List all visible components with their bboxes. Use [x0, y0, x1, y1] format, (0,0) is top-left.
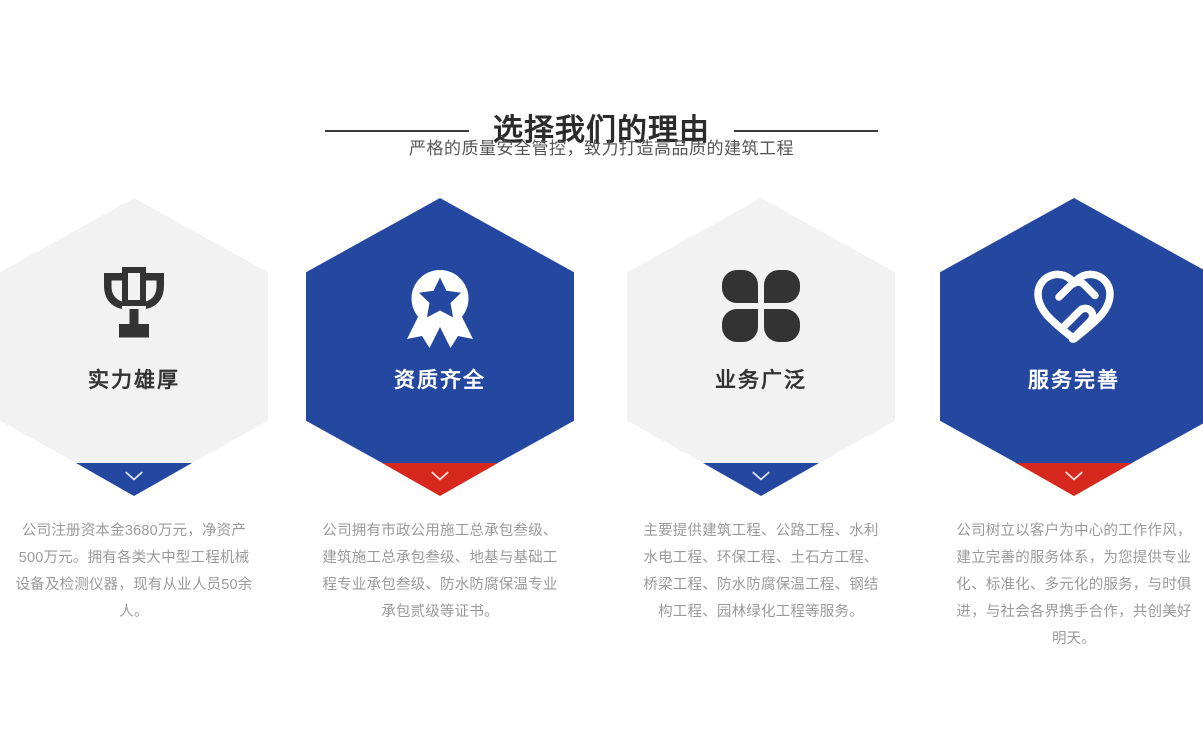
card-arrow-tab[interactable]	[382, 463, 498, 496]
feature-card-label: 服务完善	[1028, 366, 1120, 396]
clover-petals-icon	[713, 258, 809, 354]
hexagon-badge[interactable]: 资质齐全	[306, 198, 574, 495]
section-subtitle: 严格的质量安全管控，致力打造高品质的建筑工程	[0, 136, 1203, 162]
feature-card-description: 公司树立以客户为中心的工作作风，建立完善的服务体系，为您提供专业化、标准化、多元…	[954, 518, 1194, 653]
hexagon-shape: 实力雄厚	[0, 198, 268, 495]
feature-card-label: 资质齐全	[394, 366, 486, 396]
hexagon-shape: 服务完善	[940, 198, 1203, 495]
feature-card[interactable]: 实力雄厚 公司注册资本金3680万元，净资产500万元。拥有各类大中型工程机械设…	[0, 198, 268, 698]
feature-card-description: 公司注册资本金3680万元，净资产500万元。拥有各类大中型工程机械设备及检测仪…	[14, 518, 254, 626]
feature-card-description: 主要提供建筑工程、公路工程、水利水电工程、环保工程、土石方工程、桥梁工程、防水防…	[641, 518, 881, 626]
feature-card-description: 公司拥有市政公用施工总承包叁级、建筑施工总承包叁级、地基与基础工程专业承包叁级、…	[320, 518, 560, 626]
chevron-down-icon	[123, 470, 145, 482]
handshake-heart-icon	[1026, 258, 1122, 354]
feature-card[interactable]: 资质齐全 公司拥有市政公用施工总承包叁级、建筑施工总承包叁级、地基与基础工程专业…	[306, 198, 574, 698]
feature-card-list: 实力雄厚 公司注册资本金3680万元，净资产500万元。拥有各类大中型工程机械设…	[0, 198, 1203, 698]
hexagon-badge[interactable]: 服务完善	[940, 198, 1203, 495]
chevron-down-icon	[429, 470, 451, 482]
title-rule-left	[325, 130, 469, 132]
award-medal-icon	[392, 258, 488, 354]
card-arrow-tab[interactable]	[76, 463, 192, 496]
feature-card[interactable]: 服务完善 公司树立以客户为中心的工作作风，建立完善的服务体系，为您提供专业化、标…	[940, 198, 1203, 698]
chevron-down-icon	[750, 470, 772, 482]
chevron-down-icon	[1063, 470, 1085, 482]
feature-card-label: 业务广泛	[715, 366, 807, 396]
hexagon-badge[interactable]: 业务广泛	[627, 198, 895, 495]
hexagon-shape: 资质齐全	[306, 198, 574, 495]
feature-card-label: 实力雄厚	[88, 366, 180, 396]
card-arrow-tab[interactable]	[703, 463, 819, 496]
title-rule-right	[734, 130, 878, 132]
hexagon-shape: 业务广泛	[627, 198, 895, 495]
feature-card[interactable]: 业务广泛 主要提供建筑工程、公路工程、水利水电工程、环保工程、土石方工程、桥梁工…	[627, 198, 895, 698]
trophy-icon	[86, 258, 182, 354]
section-title-row: 选择我们的理由	[0, 86, 1203, 176]
card-arrow-tab[interactable]	[1016, 463, 1132, 496]
hexagon-badge[interactable]: 实力雄厚	[0, 198, 268, 495]
